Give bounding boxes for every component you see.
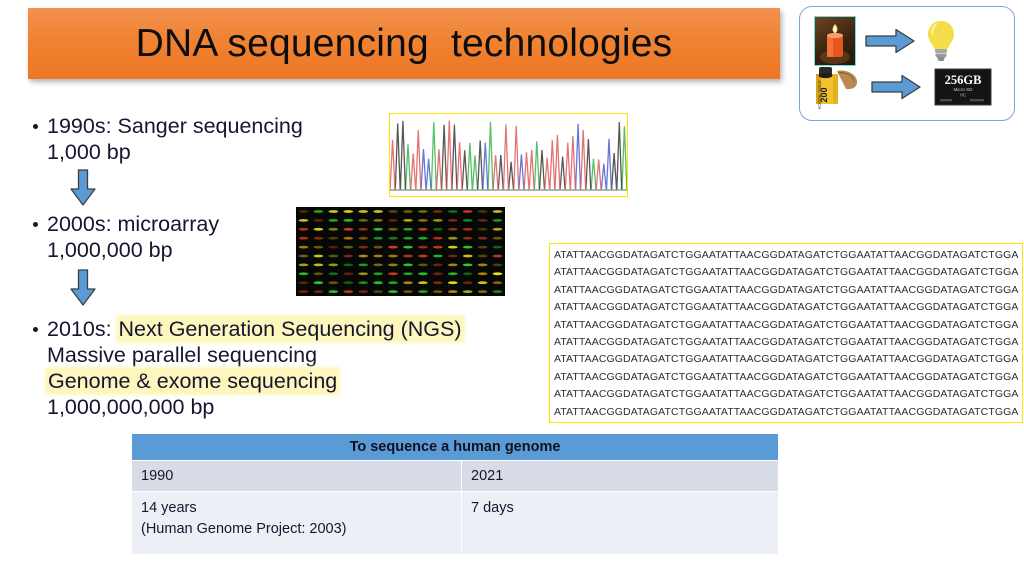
- microarray-spot: [299, 290, 309, 293]
- bullet-microarray-line2: 1,000,000 bp: [47, 237, 219, 263]
- microarray-spot: [493, 255, 503, 258]
- page-title: DNA sequencing technologies: [136, 22, 673, 66]
- microarray-spot: [418, 272, 428, 275]
- microarray-spot: [388, 255, 398, 258]
- microarray-spot: [358, 281, 368, 284]
- microarray-spot: [418, 255, 428, 258]
- microarray-spot: [358, 255, 368, 258]
- microarray-spot: [358, 228, 368, 231]
- microarray-spot: [358, 264, 368, 267]
- microarray-spot: [314, 264, 324, 267]
- bullet-ngs-line1: 2010s: Next Generation Sequencing (NGS): [47, 316, 463, 342]
- microarray-spot: [358, 290, 368, 293]
- microarray-spot: [343, 237, 353, 240]
- lightbulb-icon: [924, 18, 958, 64]
- svg-text:KODAK GOLD: KODAK GOLD: [817, 80, 822, 109]
- microarray-spot: [403, 272, 413, 275]
- microarray-spot: [493, 290, 503, 293]
- bullet-text-ngs: 2010s: Next Generation Sequencing (NGS) …: [47, 316, 463, 420]
- film-roll-icon: 200 KODAK GOLD: [810, 65, 862, 109]
- microarray-spot: [314, 246, 324, 249]
- bullet-dot-icon: [33, 124, 38, 129]
- microarray-spot: [358, 246, 368, 249]
- microarray-spot: [493, 272, 503, 275]
- sanger-chromatogram: [389, 113, 628, 197]
- microarray-spot: [463, 264, 473, 267]
- microarray-spot: [343, 255, 353, 258]
- bullet-ngs-line2: Massive parallel sequencing: [47, 342, 463, 368]
- microarray-spot: [493, 264, 503, 267]
- microarray-spot: [478, 272, 488, 275]
- microarray-spot: [343, 246, 353, 249]
- bullet-text-microarray: 2000s: microarray 1,000,000 bp: [47, 211, 219, 263]
- microarray-spot: [328, 210, 338, 213]
- table-cell-year-1990: 1990: [132, 461, 461, 491]
- microarray-spot: [478, 246, 488, 249]
- microarray-spot: [403, 290, 413, 293]
- microarray-spot: [388, 210, 398, 213]
- microarray-spot: [314, 281, 324, 284]
- microarray-spot: [418, 281, 428, 284]
- microarray-spot: [328, 237, 338, 240]
- microarray-spot: [463, 281, 473, 284]
- dna-sequence-text: ATATTAACGGDATAGATCTGGAATATTAACGGDATAGATC…: [549, 243, 1023, 423]
- microarray-spot: [403, 255, 413, 258]
- dna-sequence-line: ATATTAACGGDATAGATCTGGAATATTAACGGDATAGATC…: [554, 247, 1022, 264]
- microarray-spot: [343, 272, 353, 275]
- bullet-dot-icon: [33, 327, 38, 332]
- dna-sequence-line: ATATTAACGGDATAGATCTGGAATATTAACGGDATAGATC…: [554, 386, 1022, 403]
- table-header-row: To sequence a human genome: [132, 434, 778, 460]
- bullet-microarray-line1: 2000s: microarray: [47, 211, 219, 237]
- microarray-spot: [433, 255, 443, 258]
- microarray-spot: [328, 219, 338, 222]
- microarray-spot: [433, 219, 443, 222]
- microarray-spot: [314, 228, 324, 231]
- candle-icon: [814, 16, 856, 66]
- microarray-spot: [433, 228, 443, 231]
- microarray-spot: [314, 255, 324, 258]
- microarray-spot: [493, 219, 503, 222]
- microarray-spot: [388, 237, 398, 240]
- microarray-spot: [388, 272, 398, 275]
- microarray-spot: [299, 237, 309, 240]
- bullet-item-microarray: 2000s: microarray 1,000,000 bp: [33, 211, 219, 263]
- arrow-right-icon: [870, 73, 922, 101]
- microarray-spot: [403, 219, 413, 222]
- microarray-spot: [343, 290, 353, 293]
- microarray-spot: [314, 272, 324, 275]
- microarray-spot: [448, 210, 458, 213]
- microarray-spot: [299, 246, 309, 249]
- microarray-spot: [418, 219, 428, 222]
- microarray-spot: [448, 219, 458, 222]
- microarray-spot: [433, 272, 443, 275]
- microarray-spot: [299, 210, 309, 213]
- microarray-spot: [373, 246, 383, 249]
- bullet-ngs-highlight-2: Genome & exome sequencing: [47, 369, 338, 393]
- microarray-spot: [418, 237, 428, 240]
- microarray-spot: [314, 290, 324, 293]
- microarray-spot: [403, 210, 413, 213]
- microarray-spot: [403, 281, 413, 284]
- microarray-spot: [463, 210, 473, 213]
- microarray-spot: [299, 228, 309, 231]
- microarray-spot: [373, 281, 383, 284]
- microarray-spot: [328, 228, 338, 231]
- microarray-spot: [314, 219, 324, 222]
- arrow-down-icon: [68, 268, 98, 308]
- microarray-spot: [388, 281, 398, 284]
- dna-sequence-line: ATATTAACGGDATAGATCTGGAATATTAACGGDATAGATC…: [554, 299, 1022, 316]
- microarray-spot: [478, 210, 488, 213]
- microarray-spot: [314, 237, 324, 240]
- slide-canvas: DNA sequencing technologies 1990s: Sange…: [0, 0, 1024, 573]
- microarray-spot: [433, 237, 443, 240]
- microarray-spot: [418, 210, 428, 213]
- microarray-spot: [358, 219, 368, 222]
- microarray-spot: [373, 255, 383, 258]
- microarray-spot: [343, 210, 353, 213]
- analogy-box: 200 KODAK GOLD 256GB Micro SD HC: [799, 6, 1015, 121]
- microarray-spot: [388, 264, 398, 267]
- microarray-spot: [418, 246, 428, 249]
- microarray-spot: [448, 281, 458, 284]
- microarray-spot: [373, 237, 383, 240]
- microarray-spot: [463, 219, 473, 222]
- microarray-spot: [463, 290, 473, 293]
- microarray-spot: [388, 219, 398, 222]
- microarray-spot: [328, 246, 338, 249]
- bullet-ngs-prefix: 2010s:: [47, 317, 118, 341]
- arrow-right-icon: [864, 27, 916, 55]
- microarray-spot: [314, 210, 324, 213]
- analogy-row-film-sdcard: 200 KODAK GOLD 256GB Micro SD HC: [810, 65, 996, 109]
- dna-sequence-line: ATATTAACGGDATAGATCTGGAATATTAACGGDATAGATC…: [554, 351, 1022, 368]
- microarray-spot: [478, 281, 488, 284]
- microarray-spot: [463, 237, 473, 240]
- microarray-spot: [418, 228, 428, 231]
- microarray-spot: [388, 228, 398, 231]
- microarray-spot: [403, 246, 413, 249]
- microarray-spot: [448, 246, 458, 249]
- microarray-spot: [299, 272, 309, 275]
- microarray-spot: [299, 281, 309, 284]
- microarray-spot: [373, 272, 383, 275]
- microarray-spot: [328, 264, 338, 267]
- microarray-spot: [403, 237, 413, 240]
- analogy-row-candle-bulb: [814, 16, 958, 66]
- dna-sequence-line: ATATTAACGGDATAGATCTGGAATATTAACGGDATAGATC…: [554, 317, 1022, 334]
- microarray-spot: [433, 246, 443, 249]
- microarray-spot: [418, 290, 428, 293]
- microarray-spot: [478, 255, 488, 258]
- microarray-spot: [373, 210, 383, 213]
- microarray-spot: [343, 264, 353, 267]
- microarray-spot: [493, 210, 503, 213]
- microarray-spot: [448, 228, 458, 231]
- title-banner: DNA sequencing technologies: [28, 8, 780, 79]
- microarray-spot: [448, 255, 458, 258]
- bullet-sanger-line2: 1,000 bp: [47, 139, 303, 165]
- bullet-dot-icon: [33, 222, 38, 227]
- microarray-spot: [403, 264, 413, 267]
- microarray-spot: [478, 290, 488, 293]
- arrow-down-icon: [68, 168, 98, 208]
- microarray-spot: [463, 255, 473, 258]
- table-row: 1990 2021: [132, 461, 778, 491]
- bullet-item-ngs: 2010s: Next Generation Sequencing (NGS) …: [33, 316, 463, 420]
- microarray-spot: [433, 290, 443, 293]
- microarray-spot: [433, 281, 443, 284]
- microarray-spot: [478, 237, 488, 240]
- bullet-text-sanger: 1990s: Sanger sequencing 1,000 bp: [47, 113, 303, 165]
- table-cell-duration-1990: 14 years (Human Genome Project: 2003): [132, 492, 461, 554]
- bullet-ngs-line4: 1,000,000,000 bp: [47, 394, 463, 420]
- table-cell-year-2021: 2021: [462, 461, 778, 491]
- microarray-spot: [463, 228, 473, 231]
- microarray-spot: [373, 219, 383, 222]
- microarray-spot: [343, 219, 353, 222]
- microarray-spot: [403, 228, 413, 231]
- dna-sequence-line: ATATTAACGGDATAGATCTGGAATATTAACGGDATAGATC…: [554, 282, 1022, 299]
- microarray-spot: [418, 264, 428, 267]
- microarray-spot: [478, 264, 488, 267]
- table-header-cell: To sequence a human genome: [132, 434, 778, 460]
- bullet-sanger-line1: 1990s: Sanger sequencing: [47, 113, 303, 139]
- microarray-spot: [433, 210, 443, 213]
- sd-card-icon: 256GB Micro SD HC: [930, 65, 996, 109]
- microarray-image: [296, 207, 505, 296]
- microarray-spot: [299, 255, 309, 258]
- sd-capacity-label: 256GB: [945, 73, 982, 87]
- microarray-spot: [373, 290, 383, 293]
- bullet-ngs-highlight-1: Next Generation Sequencing (NGS): [118, 317, 463, 341]
- microarray-spot: [388, 246, 398, 249]
- microarray-spot: [493, 237, 503, 240]
- dna-sequence-line: ATATTAACGGDATAGATCTGGAATATTAACGGDATAGATC…: [554, 404, 1022, 421]
- microarray-spot: [328, 290, 338, 293]
- microarray-spot: [463, 246, 473, 249]
- microarray-spot: [328, 272, 338, 275]
- genome-sequencing-table: To sequence a human genome 1990 2021 14 …: [131, 433, 779, 555]
- microarray-spot: [493, 246, 503, 249]
- bullet-item-sanger: 1990s: Sanger sequencing 1,000 bp: [33, 113, 303, 165]
- microarray-spot: [358, 210, 368, 213]
- table-cell-duration-2021: 7 days: [462, 492, 778, 554]
- bullet-ngs-line3: Genome & exome sequencing: [47, 368, 463, 394]
- microarray-spot: [463, 272, 473, 275]
- dna-sequence-line: ATATTAACGGDATAGATCTGGAATATTAACGGDATAGATC…: [554, 369, 1022, 386]
- microarray-spot: [299, 264, 309, 267]
- microarray-spot: [343, 281, 353, 284]
- microarray-spot: [358, 237, 368, 240]
- microarray-spot: [448, 264, 458, 267]
- microarray-spot: [493, 281, 503, 284]
- microarray-spot: [388, 290, 398, 293]
- microarray-spot: [328, 281, 338, 284]
- microarray-spot: [299, 219, 309, 222]
- microarray-spot: [373, 228, 383, 231]
- microarray-spot: [478, 228, 488, 231]
- dna-sequence-line: ATATTAACGGDATAGATCTGGAATATTAACGGDATAGATC…: [554, 264, 1022, 281]
- table-row: 14 years (Human Genome Project: 2003) 7 …: [132, 492, 778, 554]
- microarray-spot: [448, 237, 458, 240]
- microarray-spot: [448, 272, 458, 275]
- microarray-spot: [478, 219, 488, 222]
- microarray-spot: [328, 255, 338, 258]
- dna-sequence-line: ATATTAACGGDATAGATCTGGAATATTAACGGDATAGATC…: [554, 334, 1022, 351]
- microarray-spot: [373, 264, 383, 267]
- sd-sub2-label: HC: [960, 93, 966, 98]
- sd-sub-label: Micro SD: [954, 87, 974, 92]
- microarray-spot: [433, 264, 443, 267]
- microarray-spot: [493, 228, 503, 231]
- microarray-spot: [343, 228, 353, 231]
- microarray-spot: [448, 290, 458, 293]
- microarray-spot: [358, 272, 368, 275]
